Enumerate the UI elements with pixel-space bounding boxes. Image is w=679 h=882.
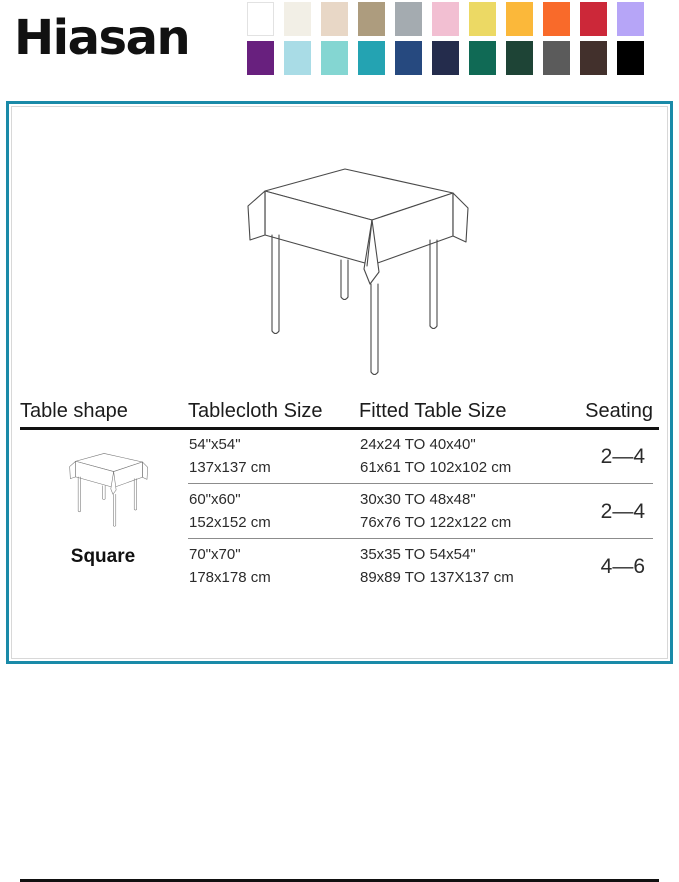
color-swatch-emerald[interactable] bbox=[469, 41, 496, 75]
product-info-panel: Table shape Tablecloth Size Fitted Table… bbox=[6, 101, 673, 664]
color-swatch-light-blue[interactable] bbox=[284, 41, 311, 75]
color-swatch-yellow[interactable] bbox=[469, 2, 496, 36]
color-swatch-purple[interactable] bbox=[247, 41, 274, 75]
color-swatch-gray[interactable] bbox=[543, 41, 570, 75]
fitted-table-size-cm: 76x76 TO 122x122 cm bbox=[360, 511, 511, 534]
table-row: 60"x60"152x152 cm30x30 TO 48x48"76x76 TO… bbox=[12, 485, 667, 540]
column-header-tablecloth-size: Tablecloth Size bbox=[188, 400, 323, 423]
color-swatch-orange[interactable] bbox=[543, 2, 570, 36]
color-swatch-red[interactable] bbox=[580, 2, 607, 36]
table-header-row: Table shape Tablecloth Size Fitted Table… bbox=[12, 389, 667, 423]
color-swatch-pink[interactable] bbox=[432, 2, 459, 36]
column-header-fitted-table-size: Fitted Table Size bbox=[359, 400, 507, 423]
color-swatch-row-2 bbox=[247, 41, 677, 75]
color-swatch-aqua[interactable] bbox=[321, 41, 348, 75]
row-divider bbox=[188, 483, 653, 484]
column-header-table-shape: Table shape bbox=[20, 400, 128, 423]
square-table-with-tablecloth-illustration bbox=[187, 162, 497, 382]
color-swatch-ivory[interactable] bbox=[284, 2, 311, 36]
row-divider bbox=[188, 538, 653, 539]
specification-table: Table shape Tablecloth Size Fitted Table… bbox=[12, 389, 667, 595]
tablecloth-size-cm: 137x137 cm bbox=[189, 456, 271, 479]
table-row: 54"x54"137x137 cm24x24 TO 40x40"61x61 TO… bbox=[12, 430, 667, 485]
color-swatch-teal[interactable] bbox=[358, 41, 385, 75]
color-swatch-dark-navy[interactable] bbox=[432, 41, 459, 75]
tablecloth-size-inches: 70"x70" bbox=[189, 543, 271, 566]
header-bar: Hiasan bbox=[0, 0, 679, 92]
color-swatch-forest-green[interactable] bbox=[506, 41, 533, 75]
color-swatch-row-1 bbox=[247, 2, 677, 36]
color-swatch-white[interactable] bbox=[247, 2, 274, 36]
cell-tablecloth-size: 70"x70"178x178 cm bbox=[189, 543, 271, 589]
cell-seating: 2—4 bbox=[601, 445, 645, 469]
cell-seating: 4—6 bbox=[601, 555, 645, 579]
fitted-table-size-cm: 61x61 TO 102x102 cm bbox=[360, 456, 511, 479]
tablecloth-size-inches: 54"x54" bbox=[189, 433, 271, 456]
fitted-table-size-inches: 30x30 TO 48x48" bbox=[360, 488, 511, 511]
column-header-seating: Seating bbox=[585, 400, 653, 423]
cell-tablecloth-size: 54"x54"137x137 cm bbox=[189, 433, 271, 479]
fitted-table-size-inches: 24x24 TO 40x40" bbox=[360, 433, 511, 456]
color-swatch-silver-gray[interactable] bbox=[395, 2, 422, 36]
brand-logo: Hiasan bbox=[14, 8, 189, 68]
cell-seating: 2—4 bbox=[601, 500, 645, 524]
tablecloth-size-cm: 178x178 cm bbox=[189, 566, 271, 589]
color-swatch-dark-brown[interactable] bbox=[580, 41, 607, 75]
tablecloth-size-cm: 152x152 cm bbox=[189, 511, 271, 534]
cell-fitted-table-size: 30x30 TO 48x48"76x76 TO 122x122 cm bbox=[360, 488, 511, 534]
cell-fitted-table-size: 24x24 TO 40x40"61x61 TO 102x102 cm bbox=[360, 433, 511, 479]
cell-fitted-table-size: 35x35 TO 54x54"89x89 TO 137X137 cm bbox=[360, 543, 514, 589]
color-swatch-black[interactable] bbox=[617, 41, 644, 75]
fitted-table-size-inches: 35x35 TO 54x54" bbox=[360, 543, 514, 566]
fitted-table-size-cm: 89x89 TO 137X137 cm bbox=[360, 566, 514, 589]
color-swatch-navy-blue[interactable] bbox=[395, 41, 422, 75]
color-swatch-beige[interactable] bbox=[321, 2, 348, 36]
color-swatch-gold[interactable] bbox=[506, 2, 533, 36]
table-row: 70"x70"178x178 cm35x35 TO 54x54"89x89 TO… bbox=[12, 540, 667, 595]
product-info-panel-inner: Table shape Tablecloth Size Fitted Table… bbox=[11, 106, 668, 659]
color-swatch-taupe[interactable] bbox=[358, 2, 385, 36]
cell-tablecloth-size: 60"x60"152x152 cm bbox=[189, 488, 271, 534]
color-swatch-lavender[interactable] bbox=[617, 2, 644, 36]
tablecloth-size-inches: 60"x60" bbox=[189, 488, 271, 511]
color-swatch-panel bbox=[247, 2, 677, 80]
table-body: Square 54"x54"137x137 cm24x24 TO 40x40"6… bbox=[12, 430, 667, 595]
